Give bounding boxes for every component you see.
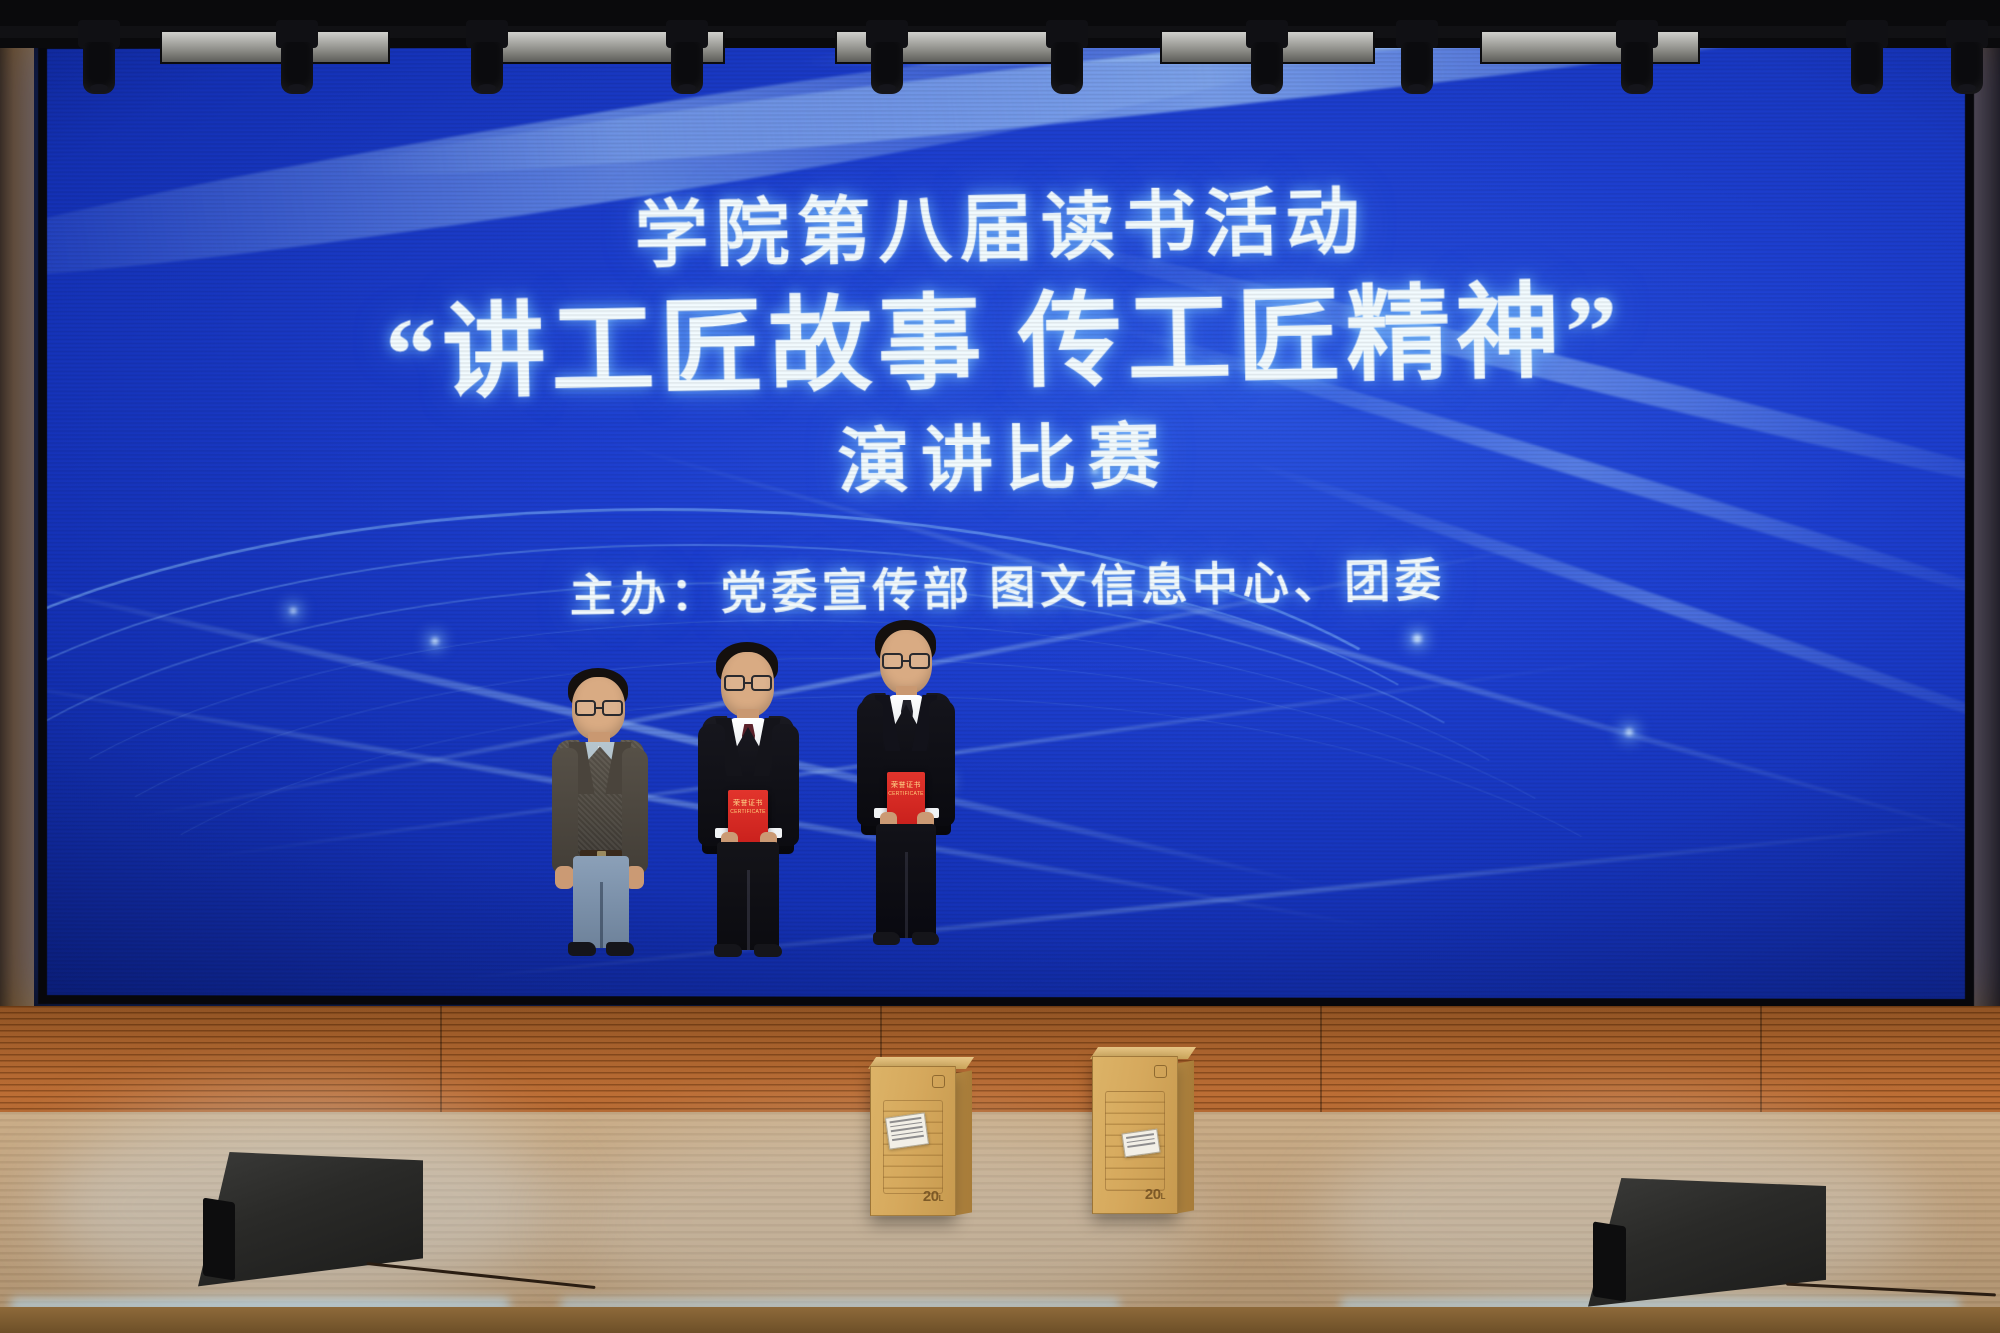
arm-left [552,748,578,874]
hand-left [555,866,574,889]
person-presenter-left [540,668,660,958]
shoe-right [606,942,634,956]
light-lens [1858,84,1876,92]
auditorium-wall-right [1970,0,2000,1060]
stage-light-fixture [460,20,514,98]
certificate-title: 荣誉证书 [887,780,925,790]
lens-left [882,653,903,669]
person-awardee-center: 荣誉证书 CERTIFICATE [690,642,806,960]
screen-title-line3: 演讲比赛 [40,406,1974,514]
box-front-face: 20L [870,1066,956,1216]
speaker-grill [1593,1221,1626,1301]
light-lens [678,84,696,92]
certificate-subtitle: CERTIFICATE [887,791,925,797]
stage-light-fixture [1240,20,1294,98]
screen-glow-dot [1626,729,1633,736]
lens-right [602,700,623,716]
lens-right [909,653,930,669]
light-lens [1958,84,1976,92]
screen-title-line1: 学院第八届读书活动 [38,174,1973,286]
certificate-title: 荣誉证书 [728,798,768,808]
volume-unit: L [1161,1192,1165,1201]
lens-left [575,700,596,716]
lens-right [751,675,772,691]
auditorium-wall-left [0,0,34,1040]
stage-light-fixture [860,20,914,98]
shipping-label [1122,1129,1161,1158]
box-side-face [954,1070,972,1215]
volume-number: 20 [1145,1186,1161,1203]
certificate-subtitle: CERTIFICATE [728,809,768,815]
mi-logo-icon [932,1075,945,1088]
box-volume-label: 20L [923,1188,943,1205]
shoe-right [912,932,939,945]
label-line [892,1135,924,1141]
speaker-grill [203,1197,235,1280]
stage-monitor-right [1588,1178,1826,1312]
led-screen: 学院第八届读书活动 “讲工匠故事 传工匠精神” 演讲比赛 主办：党委宣传部 图文… [38,36,1974,1008]
light-lens [878,84,896,92]
shoe-right [754,944,782,957]
jeans-inseam [600,882,603,948]
person-awardee-right: 荣誉证书 CERTIFICATE [848,620,964,950]
prize-box-left[interactable]: 20L [870,1066,956,1216]
light-lens [478,84,496,92]
stage-light-fixture [1390,20,1444,98]
box-volume-label: 20L [1145,1186,1165,1203]
trousers-inseam [747,870,750,950]
box-front-face: 20L [1092,1056,1178,1214]
trousers-inseam [905,852,908,938]
box-side-face [1176,1060,1194,1213]
volume-unit: L [939,1194,943,1203]
screen-organizers-line: 主办：党委宣传部 图文信息中心、团委 [43,549,1974,630]
light-lens [1628,84,1646,92]
light-lens [1408,84,1426,92]
stage-light-fixture [1610,20,1664,98]
stage-light-fixture [660,20,714,98]
screen-title-line2: “讲工匠故事 传工匠精神” [38,270,1974,416]
shipping-label [885,1112,929,1149]
eyeglasses-icon [724,676,772,690]
shoe-left [714,944,742,957]
eyeglasses-icon [575,701,623,715]
arm-right [622,748,648,874]
stage-monitor-left [198,1152,423,1292]
lens-left [724,675,745,691]
screen-glow-dot [1413,634,1422,643]
stage-light-fixture [270,20,324,98]
shoe-left [873,932,900,945]
prize-box-right[interactable]: 20L [1092,1056,1178,1214]
stage-scene: 学院第八届读书活动 “讲工匠故事 传工匠精神” 演讲比赛 主办：党委宣传部 图文… [0,0,2000,1333]
truss-panel [1480,30,1700,64]
label-line [1127,1142,1155,1147]
mi-logo-icon [1154,1065,1167,1078]
light-lens [288,84,306,92]
light-lens [1258,84,1276,92]
screen-glow-dot [431,638,438,645]
shoe-left [568,942,596,956]
light-lens [90,84,108,92]
light-lens [1058,84,1076,92]
screen-text-block: 学院第八届读书活动 “讲工匠故事 传工匠精神” 演讲比赛 主办：党委宣传部 图文… [38,36,1974,629]
stage-light-fixture [1040,20,1094,98]
stage-light-fixture [1840,20,1894,98]
stage-light-fixture [1940,20,1994,98]
volume-number: 20 [923,1188,939,1205]
stage-light-fixture [72,20,126,98]
eyeglasses-icon [882,654,930,668]
